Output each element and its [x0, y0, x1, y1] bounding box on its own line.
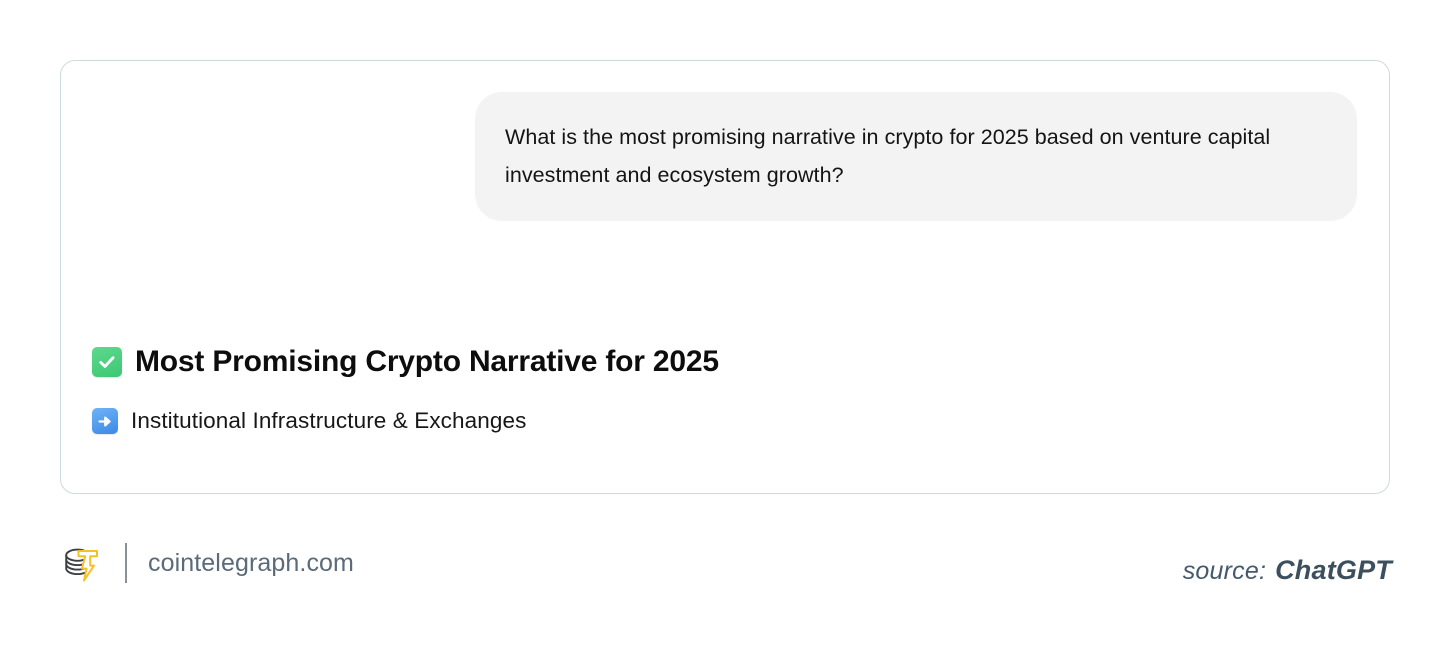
brand-url-text: cointelegraph.com	[148, 551, 354, 576]
brand-block: cointelegraph.com	[58, 540, 354, 586]
user-message-text: What is the most promising narrative in …	[505, 118, 1327, 194]
screenshot-root: What is the most promising narrative in …	[0, 0, 1450, 655]
cointelegraph-logo-icon	[58, 540, 104, 586]
assistant-heading: Most Promising Crypto Narrative for 2025	[92, 344, 1352, 380]
white-heavy-check-mark-icon	[92, 347, 122, 377]
assistant-list-item-text: Institutional Infrastructure & Exchanges	[131, 407, 526, 435]
source-name: ChatGPT	[1275, 555, 1392, 586]
source-attribution: source: ChatGPT	[1183, 555, 1392, 586]
assistant-list-item: Institutional Infrastructure & Exchanges	[92, 407, 1352, 435]
assistant-heading-text: Most Promising Crypto Narrative for 2025	[135, 344, 719, 380]
right-arrow-icon	[92, 408, 118, 434]
assistant-message: Most Promising Crypto Narrative for 2025…	[92, 344, 1352, 435]
footer-divider	[125, 543, 127, 583]
footer: cointelegraph.com source: ChatGPT	[0, 529, 1450, 619]
chat-card: What is the most promising narrative in …	[60, 60, 1390, 494]
user-message-bubble: What is the most promising narrative in …	[475, 92, 1357, 221]
source-label: source:	[1183, 557, 1266, 586]
